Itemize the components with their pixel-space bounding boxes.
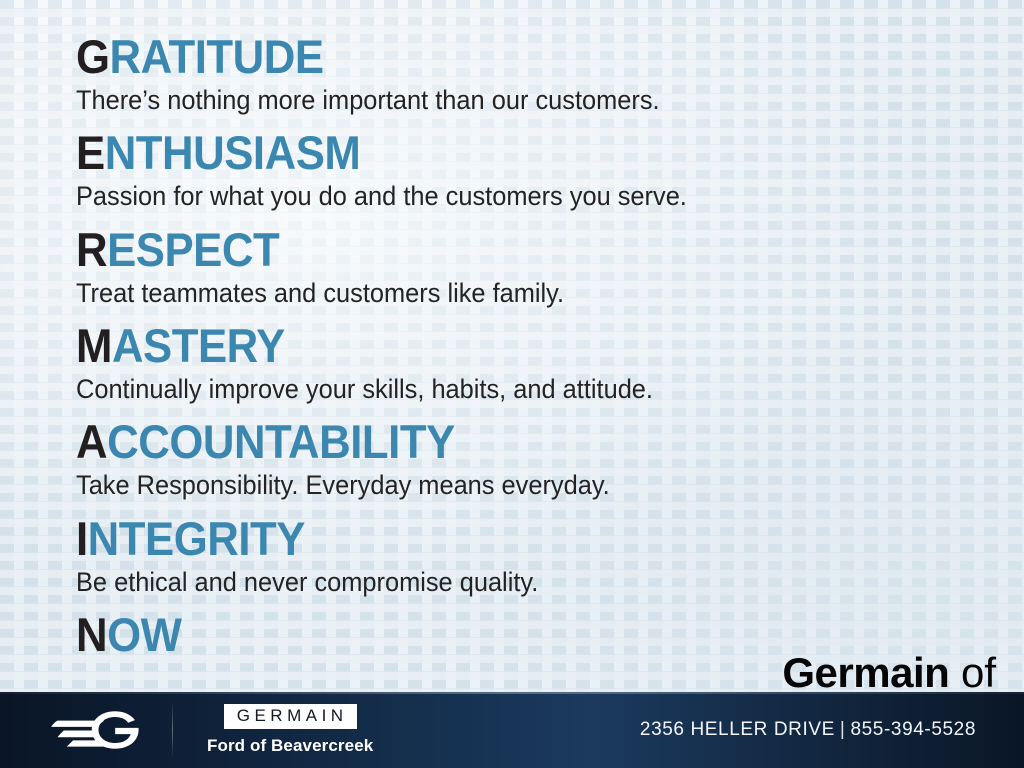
value-rest: CCOUNTABILITY [107,415,455,468]
value-initial: A [76,415,107,468]
germain-winged-g-icon [46,707,150,753]
value-word-mastery: MASTERY [76,322,894,369]
value-item-mastery: MASTERY Continually improve your skills,… [76,322,956,403]
value-word-respect: RESPECT [76,226,894,273]
value-description-mastery: Continually improve your skills, habits,… [76,375,903,403]
footer-brand: GERMAIN Ford of Beavercreek [207,704,373,756]
value-description-respect: Treat teammates and customers like famil… [76,279,903,307]
value-initial: N [76,608,107,661]
value-initial: E [76,126,105,179]
value-word-now: NOW [76,611,894,658]
value-rest: RATITUDE [110,30,324,83]
value-item-respect: RESPECT Treat teammates and customers li… [76,226,956,307]
footer-bar: GERMAIN Ford of Beavercreek 2356 HELLER … [0,692,1024,768]
germain-logo-box: GERMAIN [224,704,357,729]
footer-address: 2356 HELLER DRIVE [640,719,835,740]
value-word-integrity: INTEGRITY [76,515,894,562]
value-initial: M [76,319,112,372]
value-rest: NTHUSIASM [105,126,361,179]
footer-phone: 855-394-5528 [850,719,976,740]
value-description-enthusiasm: Passion for what you do and the customer… [76,182,903,210]
value-word-gratitude: GRATITUDE [76,33,894,80]
brand-wordmark-light: of [961,649,996,696]
footer-store-name: Ford of Beavercreek [207,736,373,756]
value-word-accountability: ACCOUNTABILITY [76,418,894,465]
value-initial: G [76,30,110,83]
value-description-gratitude: There’s nothing more important than our … [76,86,903,114]
value-description-integrity: Be ethical and never compromise quality. [76,568,903,596]
footer-separator: | [835,719,851,740]
value-rest: ESPECT [107,223,279,276]
value-item-accountability: ACCOUNTABILITY Take Responsibility. Ever… [76,418,956,499]
value-item-gratitude: GRATITUDE There’s nothing more important… [76,33,956,114]
brand-wordmark: Germain of [782,652,996,694]
value-item-integrity: INTEGRITY Be ethical and never compromis… [76,515,956,596]
value-rest: NTEGRITY [88,512,305,565]
value-word-enthusiasm: ENTHUSIASM [76,129,894,176]
footer-divider [172,703,173,757]
value-rest: ASTERY [112,319,285,372]
value-description-accountability: Take Responsibility. Everyday means ever… [76,471,903,499]
value-initial: I [76,512,88,565]
value-rest: OW [107,608,181,661]
core-values-list: GRATITUDE There’s nothing more important… [76,33,956,658]
value-initial: R [76,223,107,276]
value-item-enthusiasm: ENTHUSIASM Passion for what you do and t… [76,129,956,210]
brand-wordmark-bold: Germain [782,649,949,696]
footer-contact: 2356 HELLER DRIVE|855-394-5528 [640,719,976,741]
values-poster: GRATITUDE There’s nothing more important… [0,0,1024,768]
